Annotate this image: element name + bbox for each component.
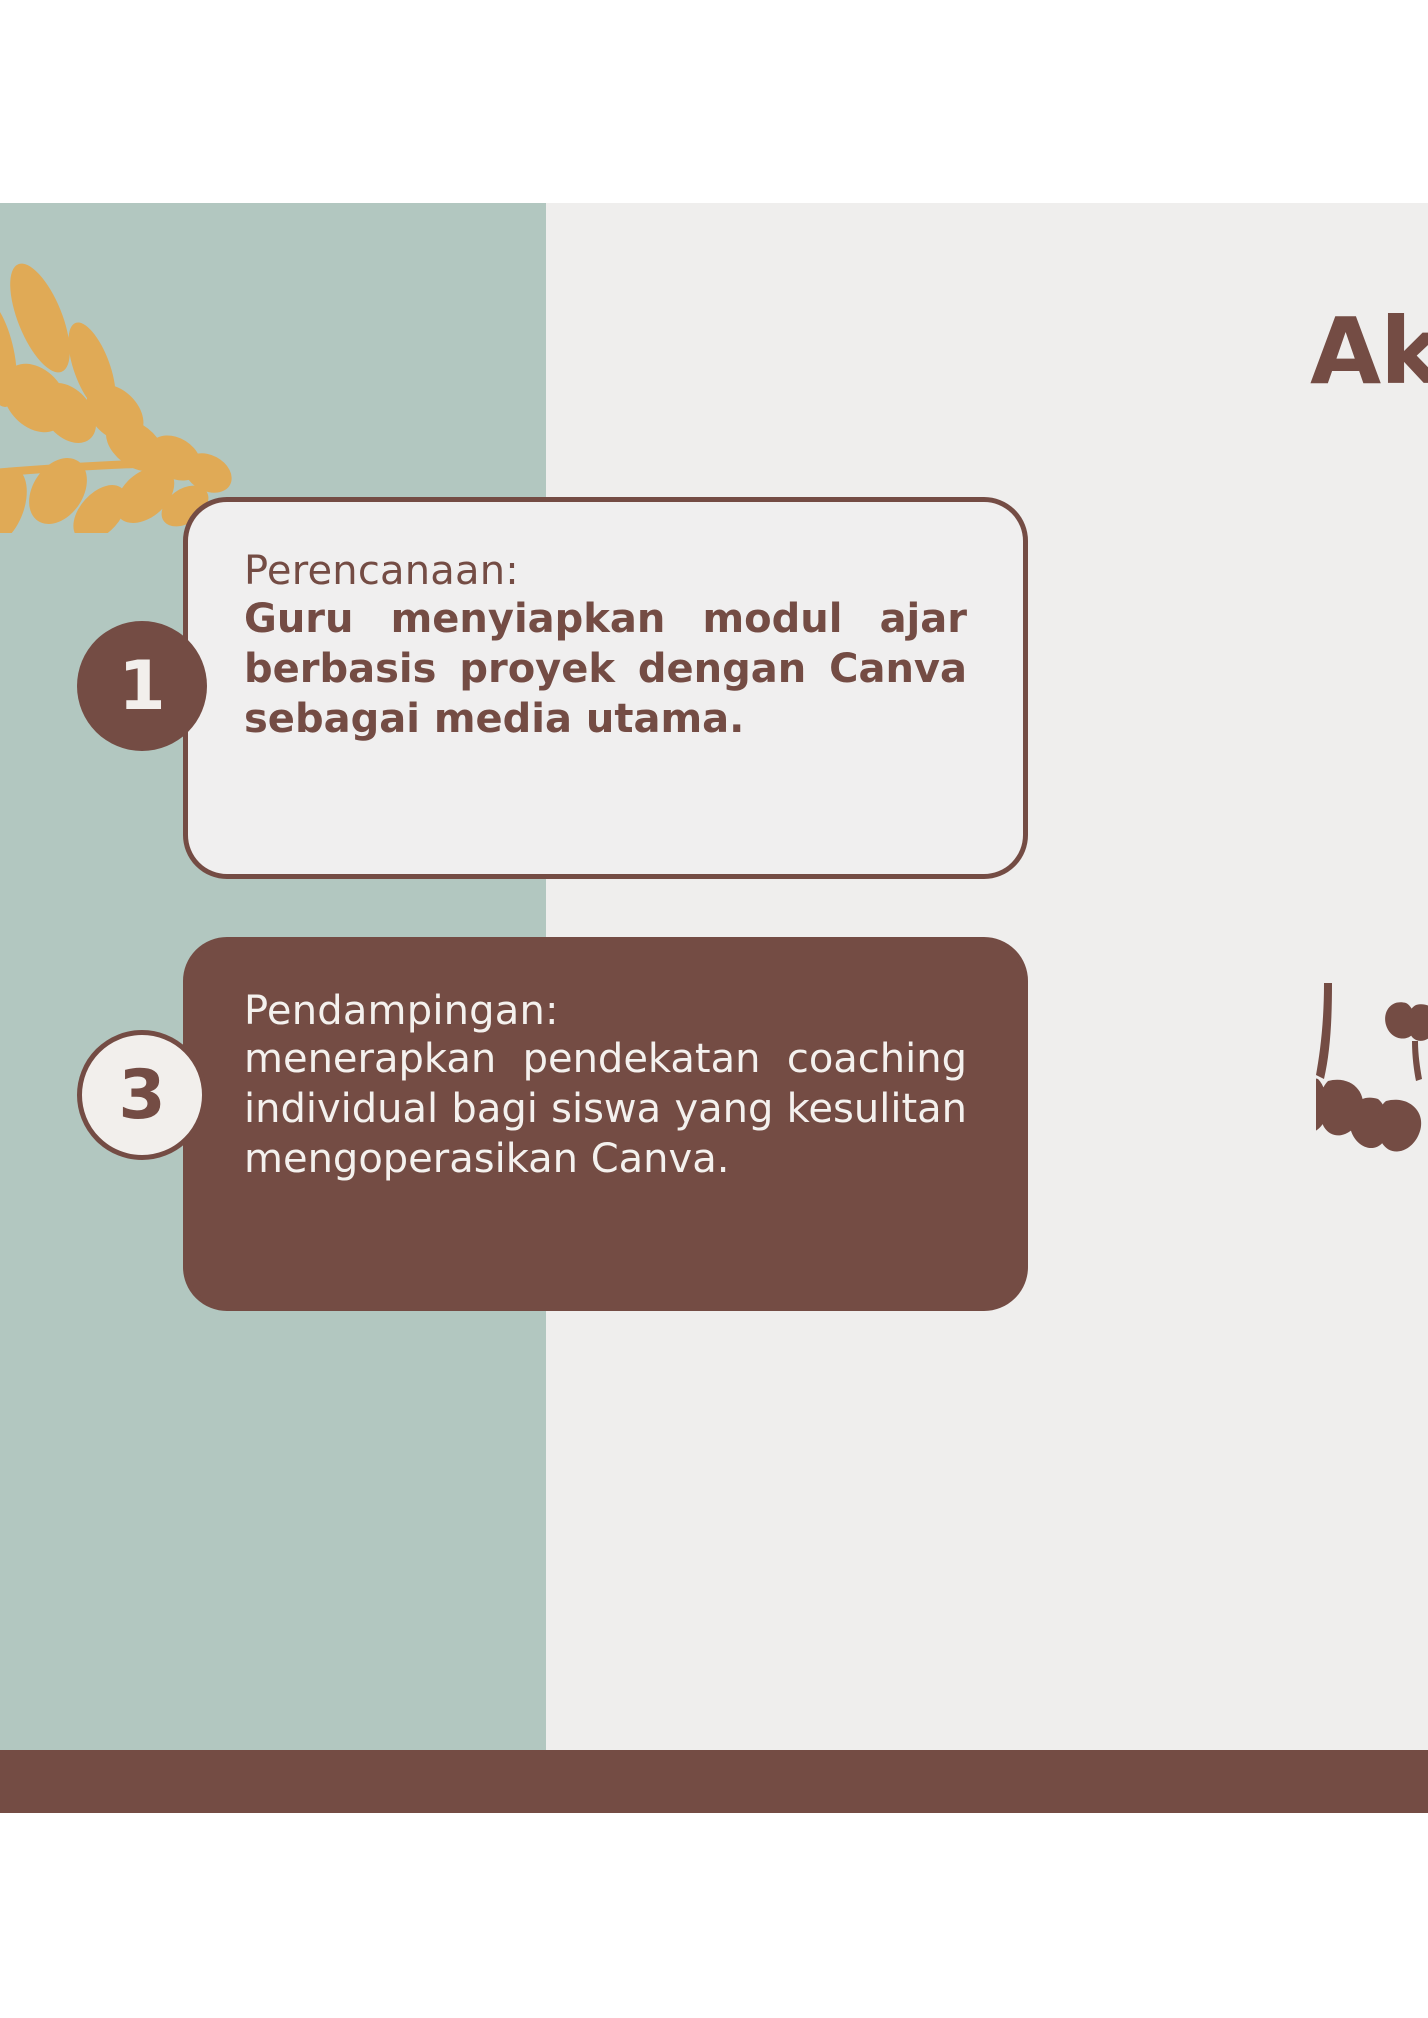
poster-canvas: Ak Perencanaan: Guru menyiapkan modul aj… [0, 203, 1428, 1813]
bottom-accent-band [0, 1750, 1428, 1813]
step-badge-1: 1 [77, 621, 207, 751]
step-card-1-body: Guru menyiapkan modul ajar berbasis proy… [244, 594, 967, 744]
step-card-1-content: Perencanaan: Guru menyiapkan modul ajar … [188, 502, 1023, 744]
step-badge-2: 3 [77, 1030, 207, 1160]
step-card-1-title: Perencanaan: [244, 550, 967, 592]
step-card-2: Pendampingan: menerapkan pendekatan coac… [183, 937, 1028, 1311]
step-card-2-content: Pendampingan: menerapkan pendekatan coac… [188, 942, 1023, 1184]
page-title: Ak [1310, 298, 1428, 405]
step-card-1: Perencanaan: Guru menyiapkan modul ajar … [183, 497, 1028, 879]
step-card-2-title: Pendampingan: [244, 990, 967, 1032]
step-card-2-body: menerapkan pendekatan coaching individua… [244, 1034, 967, 1184]
